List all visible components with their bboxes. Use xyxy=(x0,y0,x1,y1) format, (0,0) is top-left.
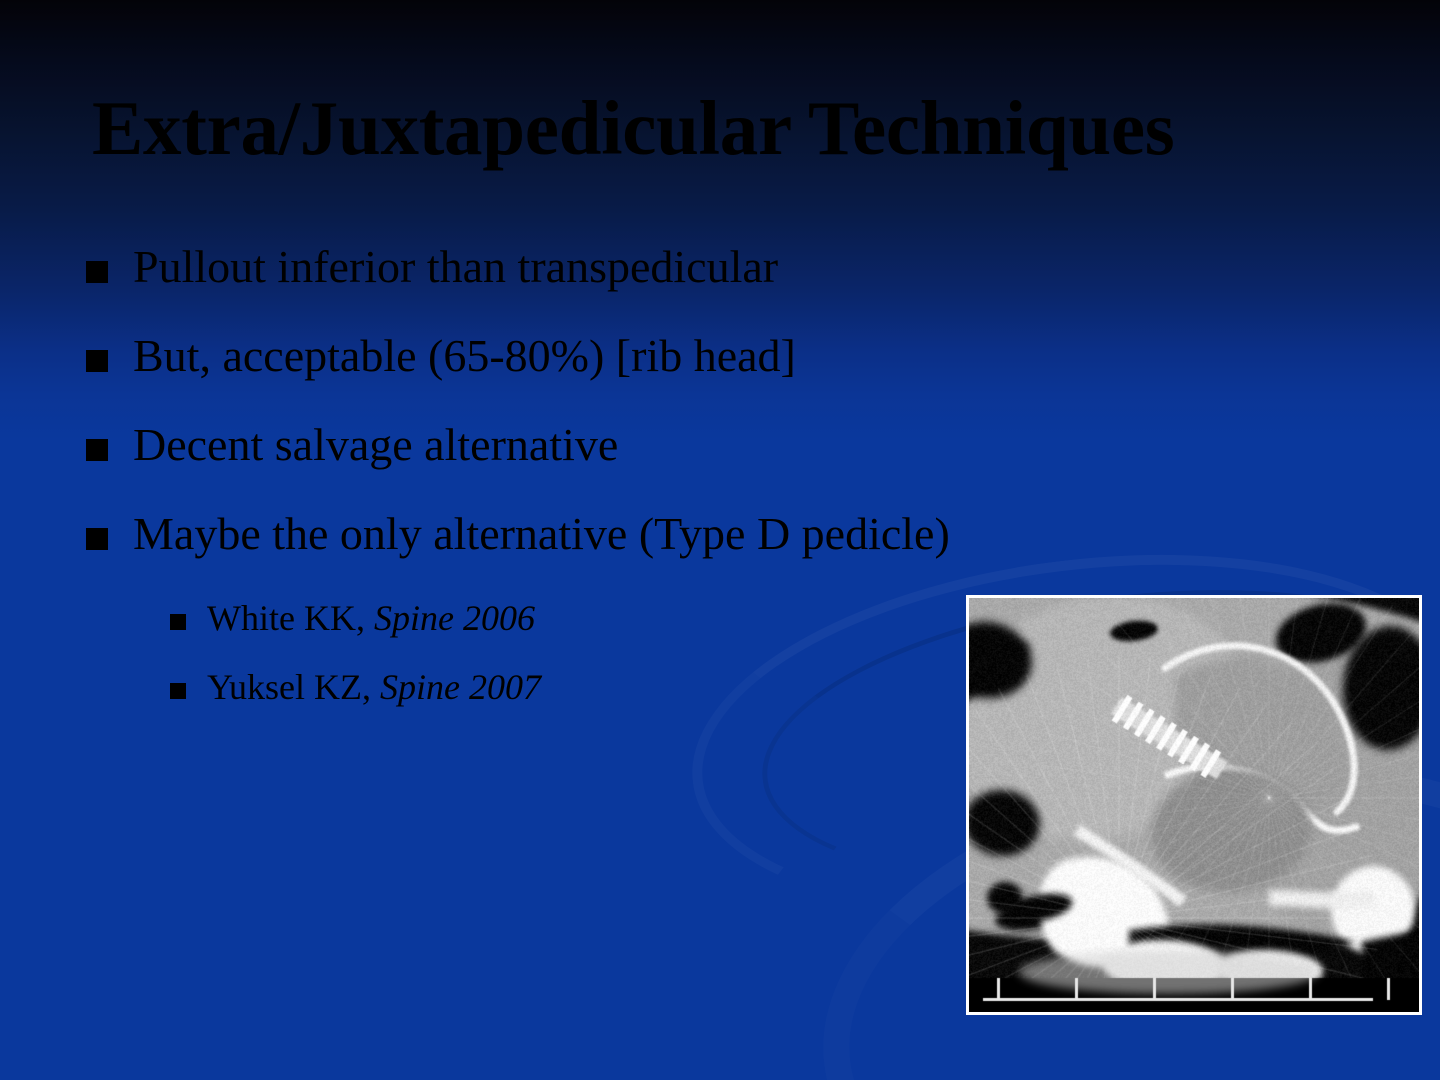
citation-yuksel: Yuksel KZ, Spine 2007 xyxy=(207,669,541,705)
list-item-label: But, acceptable (65-80%) [rib head] xyxy=(133,333,796,379)
list-item-label: Maybe the only alternative (Type D pedic… xyxy=(133,511,950,557)
bullet-square-icon xyxy=(86,350,108,372)
bullet-square-icon xyxy=(86,439,108,461)
citation-white: White KK, Spine 2006 xyxy=(207,600,535,636)
bullet-square-icon xyxy=(86,261,108,283)
slide-title: Extra/Juxtapedicular Techniques xyxy=(92,88,1392,169)
bullet-square-icon xyxy=(170,683,186,699)
list-item: But, acceptable (65-80%) [rib head] xyxy=(86,333,1366,379)
list-item-label: Pullout inferior than transpedicular xyxy=(133,244,778,290)
presentation-slide: Extra/Juxtapedicular Techniques Pullout … xyxy=(0,0,1440,1080)
ct-scan-figure xyxy=(966,595,1422,1015)
list-item-label: Decent salvage alternative xyxy=(133,422,618,468)
bullet-square-icon xyxy=(86,528,108,550)
bullet-square-icon xyxy=(170,614,186,630)
list-item: Pullout inferior than transpedicular xyxy=(86,244,1366,290)
list-item: Decent salvage alternative xyxy=(86,422,1366,468)
citation-journal: Spine 2007 xyxy=(380,667,541,707)
citation-author: Yuksel KZ, xyxy=(207,667,380,707)
citation-author: White KK, xyxy=(207,598,374,638)
list-item: Maybe the only alternative (Type D pedic… xyxy=(86,511,1366,557)
citation-journal: Spine 2006 xyxy=(374,598,535,638)
ct-scan-image xyxy=(969,598,1419,1012)
